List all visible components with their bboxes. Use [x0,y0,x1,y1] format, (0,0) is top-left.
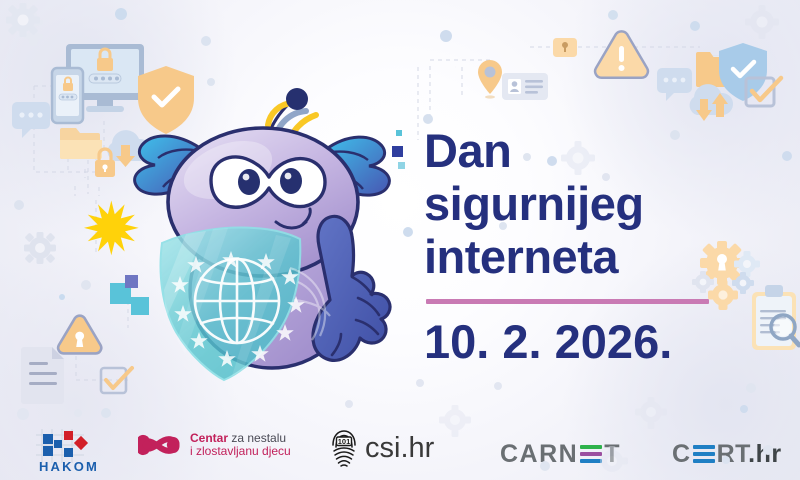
mascot-illustration [0,0,800,480]
globe-icon [195,259,279,343]
poster-root: Dan sigurnijeg interneta 10. 2. 2026. [0,0,800,480]
